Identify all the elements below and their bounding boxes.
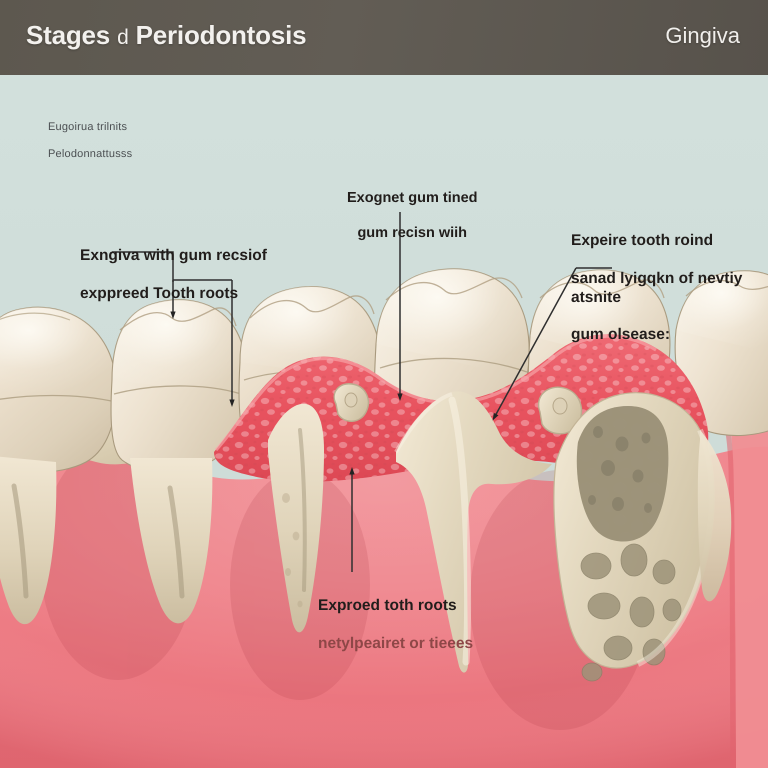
gingival-pocket-loop <box>334 384 368 422</box>
annotation-gingiva-note: Eugoirua trilnits Pelodonnattusss <box>48 108 132 175</box>
annotation-left-line2: exppreed Tooth roots <box>80 285 267 304</box>
annotation-gingiva-note-line1: Eugoirua trilnits <box>48 121 132 134</box>
annotation-gum-recession-middle: Exognet gum tined gum recisn wiih <box>347 172 478 260</box>
page-title: Stages d Periodontosis <box>26 20 306 51</box>
header-subject-label: Gingiva <box>665 23 740 49</box>
annotation-exposed-root-right: Expeire tooth roind sanad lyigqkn of nev… <box>571 213 768 364</box>
annotation-bottom-line2: netylpeairet or tieees <box>318 635 473 654</box>
page-title-part2: d <box>117 26 128 49</box>
annotation-gum-recession-left: Exngiva with gum recsiof exppreed Tooth … <box>80 228 267 323</box>
annotation-right-line3: gum olsease: <box>571 326 768 345</box>
annotation-gingiva-note-line2: Pelodonnattusss <box>48 148 132 161</box>
annotation-exposed-roots-bottom: Exproed toth roots netylpeairet or tieee… <box>318 578 473 673</box>
annotation-middle-line1: Exognet gum tined <box>347 190 478 208</box>
page-title-part3: Periodontosis <box>136 20 307 50</box>
illustration-page: Eugoirua trilnits Pelodonnattusss Exngiv… <box>0 0 768 768</box>
annotation-bottom-line1: Exproed toth roots <box>318 597 473 616</box>
title-bar: Stages d Periodontosis Gingiva <box>0 0 768 75</box>
page-title-part1: Stages <box>26 20 110 50</box>
annotation-right-line2: sanad lyigqkn of nevtiy atsnite <box>571 270 768 308</box>
annotation-middle-line2: gum recisn wiih <box>347 225 478 243</box>
annotation-right-line1: Expeire tooth roind <box>571 232 768 251</box>
annotation-left-line1: Exngiva with gum recsiof <box>80 247 267 266</box>
